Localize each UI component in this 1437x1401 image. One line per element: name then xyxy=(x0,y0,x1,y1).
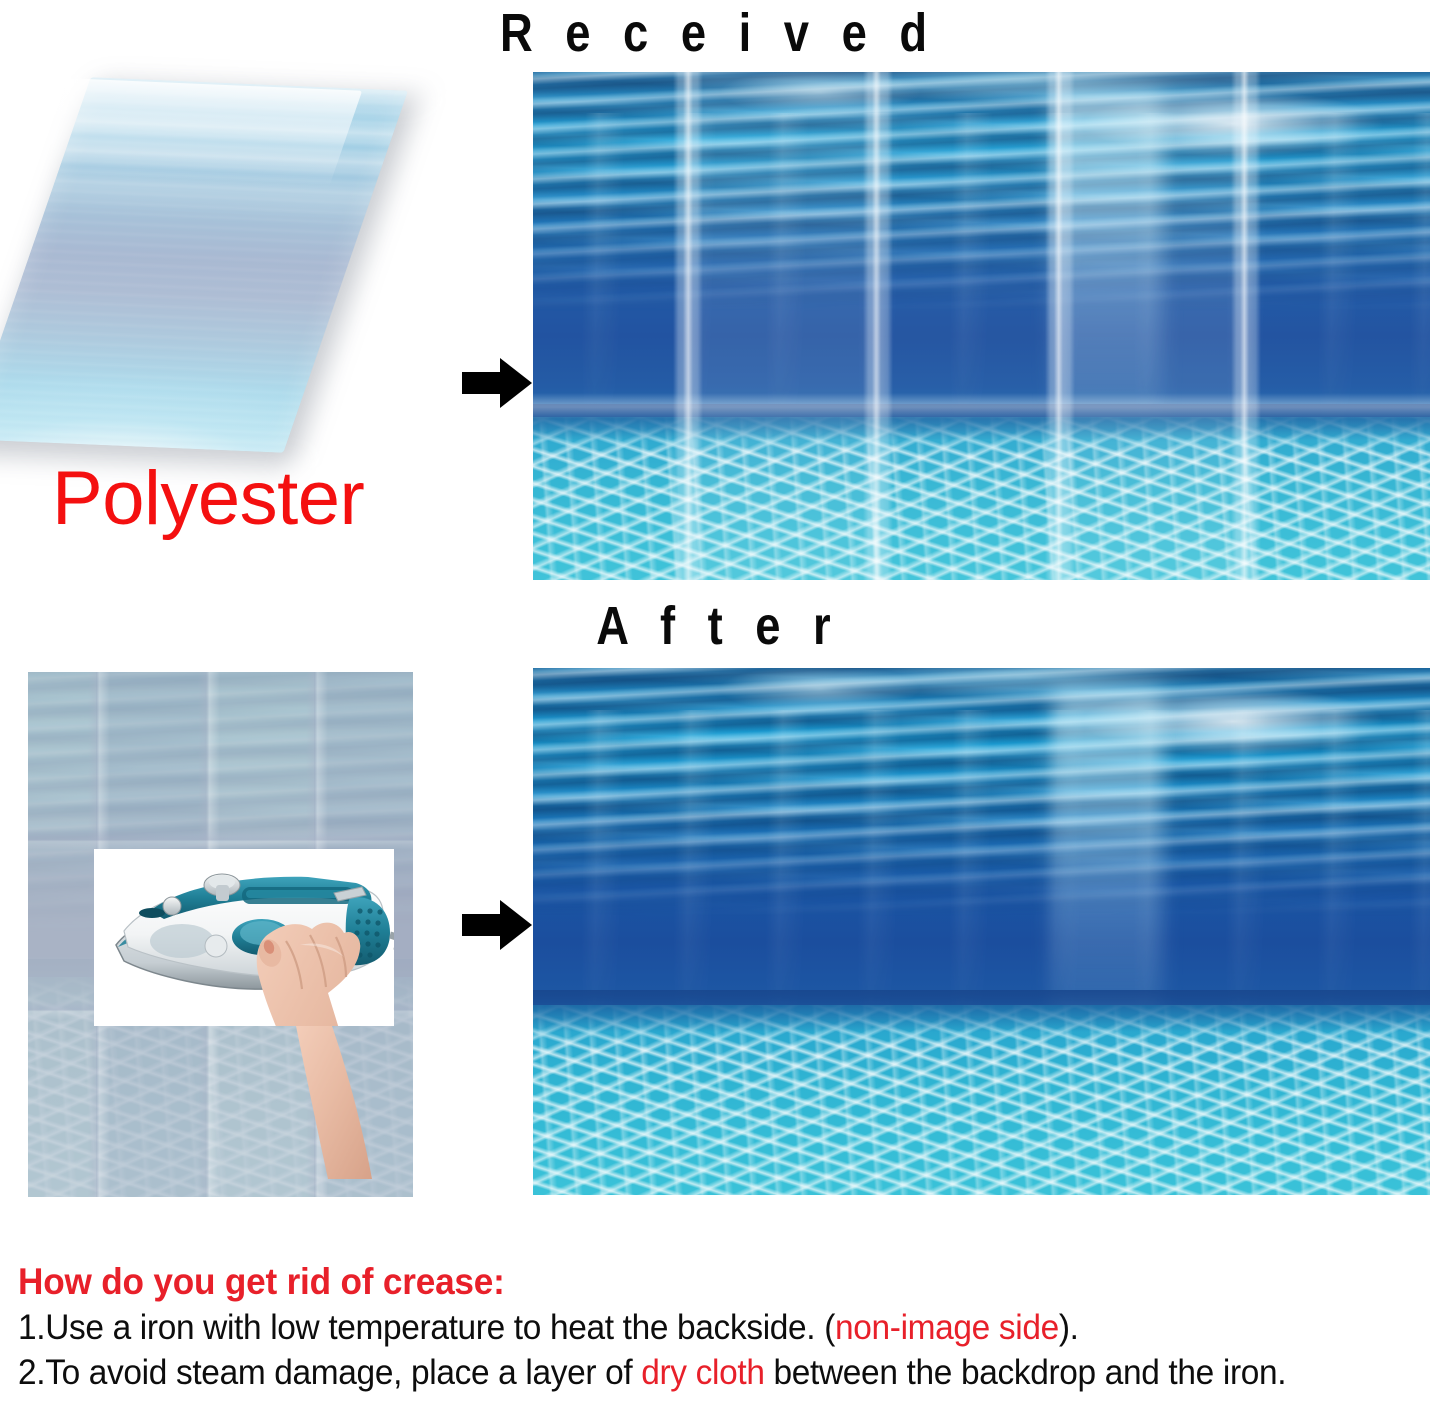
iron-tank-window xyxy=(150,924,214,958)
sandy-seabed-caustics xyxy=(533,417,1430,580)
instruction-2-highlight: dry cloth xyxy=(641,1353,764,1392)
page-title-received: R e c e i v e d xyxy=(115,2,1322,64)
iron-knob-stem xyxy=(216,885,229,901)
forearm-extension xyxy=(296,1026,372,1179)
iron-spray-button xyxy=(205,935,227,957)
instruction-line-1: 1.Use a iron with low temperature to hea… xyxy=(18,1305,1365,1350)
sandy-seabed-caustics xyxy=(533,1005,1430,1195)
iron-vent-slot xyxy=(139,908,165,918)
instruction-line-2: 2.To avoid steam damage, place a layer o… xyxy=(18,1350,1365,1395)
instruction-1-prefix: 1.Use a iron with low temperature to hea… xyxy=(18,1308,835,1347)
arrow-head xyxy=(500,900,532,950)
right-arrow-icon-after xyxy=(462,900,534,950)
steam-iron-with-hand-photo xyxy=(94,849,394,1026)
instruction-1-highlight: non-image side xyxy=(835,1308,1059,1347)
fabric-sheet xyxy=(0,77,408,452)
right-arrow-icon xyxy=(462,358,534,408)
instructions-heading: How do you get rid of crease: xyxy=(18,1258,1358,1305)
instruction-1-suffix: ). xyxy=(1059,1308,1079,1347)
instructions-block: How do you get rid of crease: 1.Use a ir… xyxy=(18,1258,1428,1395)
arrow-head xyxy=(500,358,532,408)
iron-small-knob xyxy=(163,897,181,915)
polyester-label: Polyester xyxy=(52,458,364,540)
page-title-after: A f t e r xyxy=(115,595,1322,657)
after-backdrop-photo xyxy=(533,668,1430,1195)
polyester-fabric-sample xyxy=(18,78,438,498)
instruction-2-suffix: between the backdrop and the iron. xyxy=(765,1353,1287,1392)
received-backdrop-photo xyxy=(533,72,1430,580)
instruction-2-prefix: 2.To avoid steam damage, place a layer o… xyxy=(18,1353,641,1392)
